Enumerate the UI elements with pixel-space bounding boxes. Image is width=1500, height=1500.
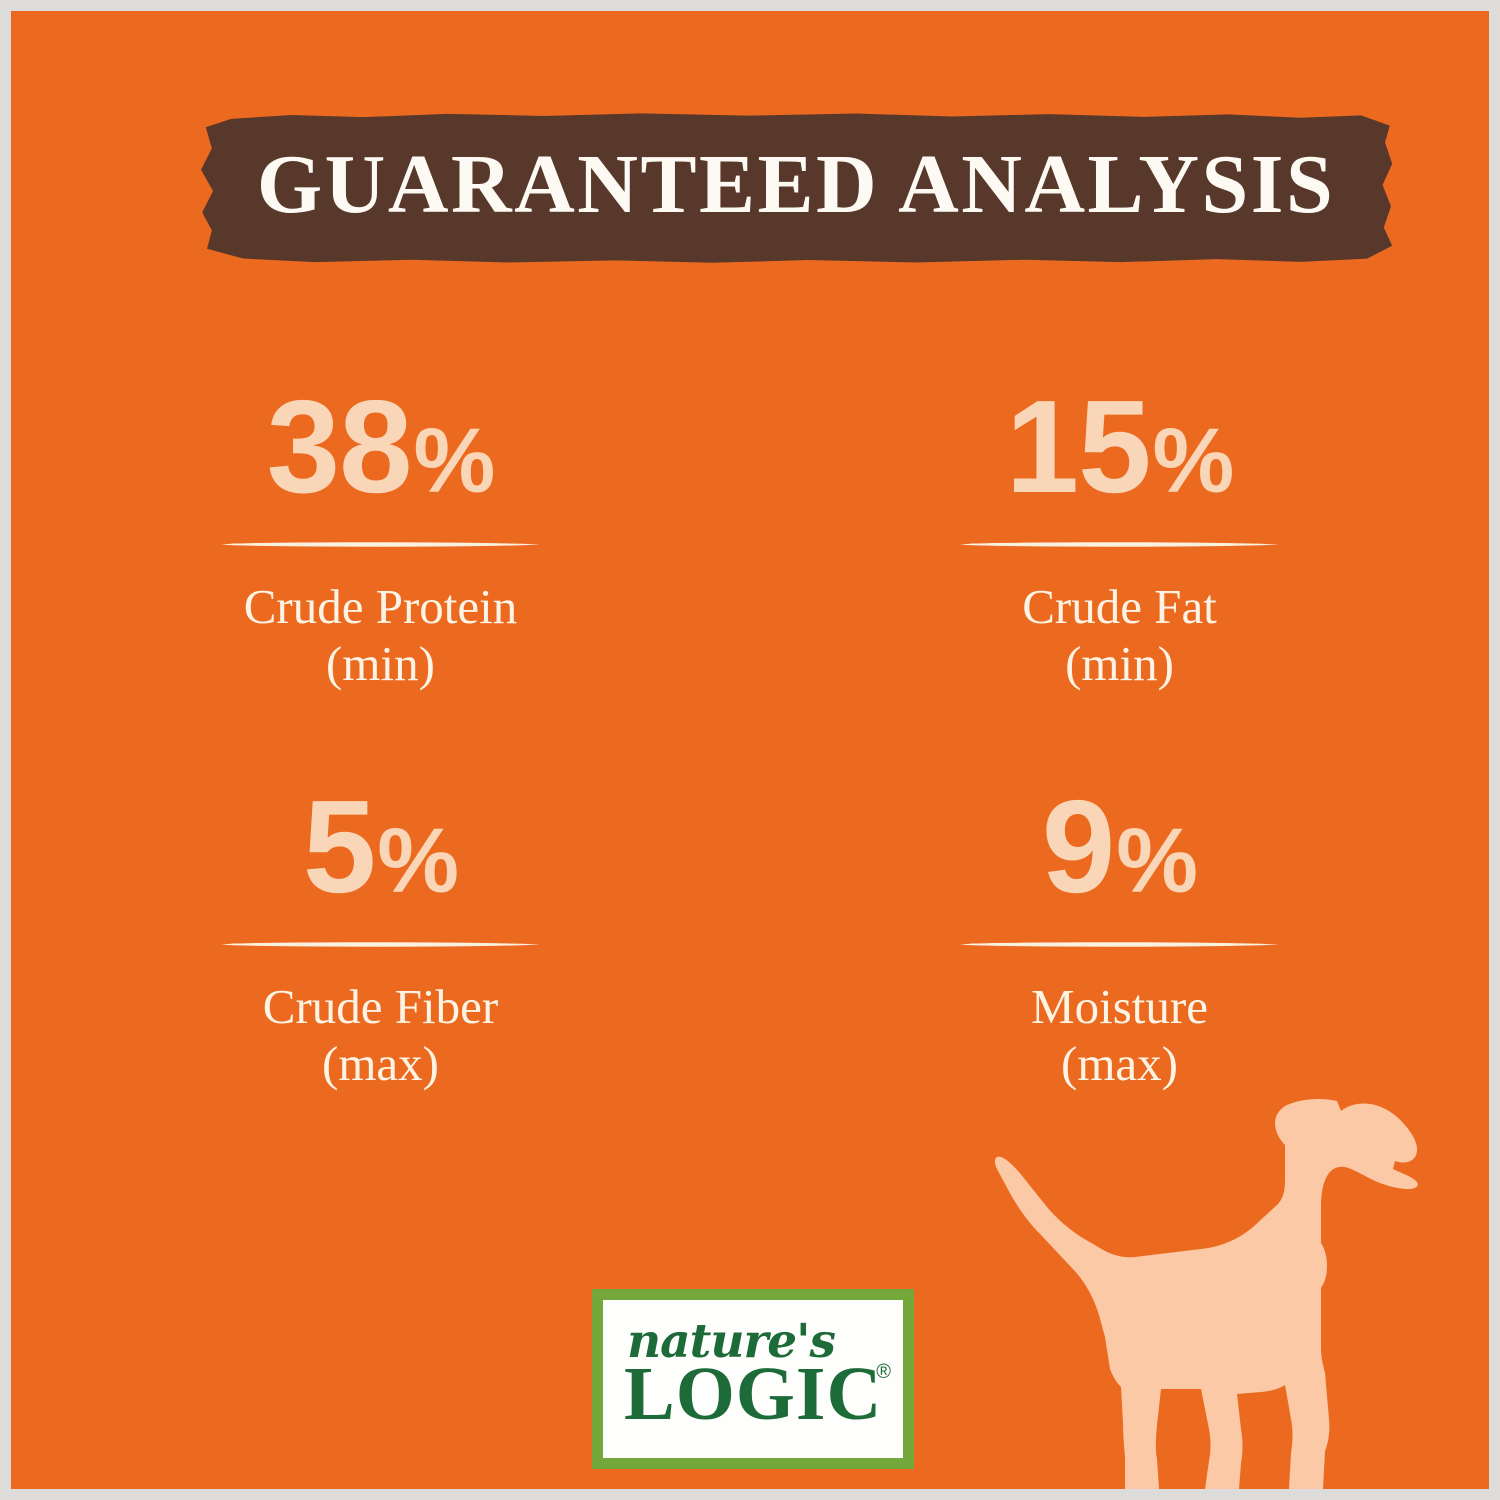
- brush-stroke: [960, 942, 1280, 947]
- logo-inner: nature's LOGIC ®: [603, 1300, 903, 1458]
- stat-crude-fat: 15% Crude Fat (min): [750, 381, 1489, 781]
- registered-trademark-icon: ®: [876, 1362, 891, 1382]
- page-title: Guaranteed Analysis: [195, 112, 1397, 264]
- divider-rule: [960, 539, 1280, 549]
- stat-unit: %: [1116, 815, 1197, 907]
- stat-number: 38: [267, 381, 412, 513]
- stat-label-moisture: Moisture (max): [1031, 979, 1208, 1093]
- brush-stroke: [960, 542, 1280, 547]
- banner: Guaranteed Analysis: [195, 112, 1397, 264]
- guaranteed-analysis-panel: Guaranteed Analysis 38% Crude Protein (m…: [0, 0, 1500, 1500]
- stat-unit: %: [1153, 415, 1234, 507]
- stat-crude-protein: 38% Crude Protein (min): [11, 381, 750, 781]
- stat-value-crude-fiber: 5%: [303, 781, 458, 917]
- stat-label-crude-fiber: Crude Fiber (max): [263, 979, 498, 1093]
- brush-stroke: [221, 542, 541, 547]
- divider-rule: [960, 939, 1280, 949]
- stat-value-crude-fat: 15%: [1006, 381, 1234, 517]
- divider-rule: [221, 939, 541, 949]
- stat-value-crude-protein: 38%: [267, 381, 495, 517]
- brand-logo: nature's LOGIC ®: [592, 1289, 914, 1469]
- stat-crude-fiber: 5% Crude Fiber (max): [11, 781, 750, 1181]
- stat-value-moisture: 9%: [1042, 781, 1197, 917]
- stat-number: 15: [1006, 381, 1151, 513]
- logo-wordmark: LOGIC: [624, 1356, 882, 1432]
- stats-grid: 38% Crude Protein (min) 15% Crude Fat (m…: [11, 381, 1489, 1181]
- orange-canvas: Guaranteed Analysis 38% Crude Protein (m…: [11, 11, 1489, 1489]
- divider-rule: [221, 539, 541, 549]
- stat-label-crude-fat: Crude Fat (min): [1022, 579, 1217, 693]
- dog-silhouette-icon: [989, 1089, 1449, 1489]
- brush-stroke: [221, 942, 541, 947]
- stat-number: 5: [303, 781, 375, 913]
- stat-unit: %: [414, 415, 495, 507]
- stat-unit: %: [377, 815, 458, 907]
- stat-label-crude-protein: Crude Protein (min): [244, 579, 518, 693]
- stat-number: 9: [1042, 781, 1114, 913]
